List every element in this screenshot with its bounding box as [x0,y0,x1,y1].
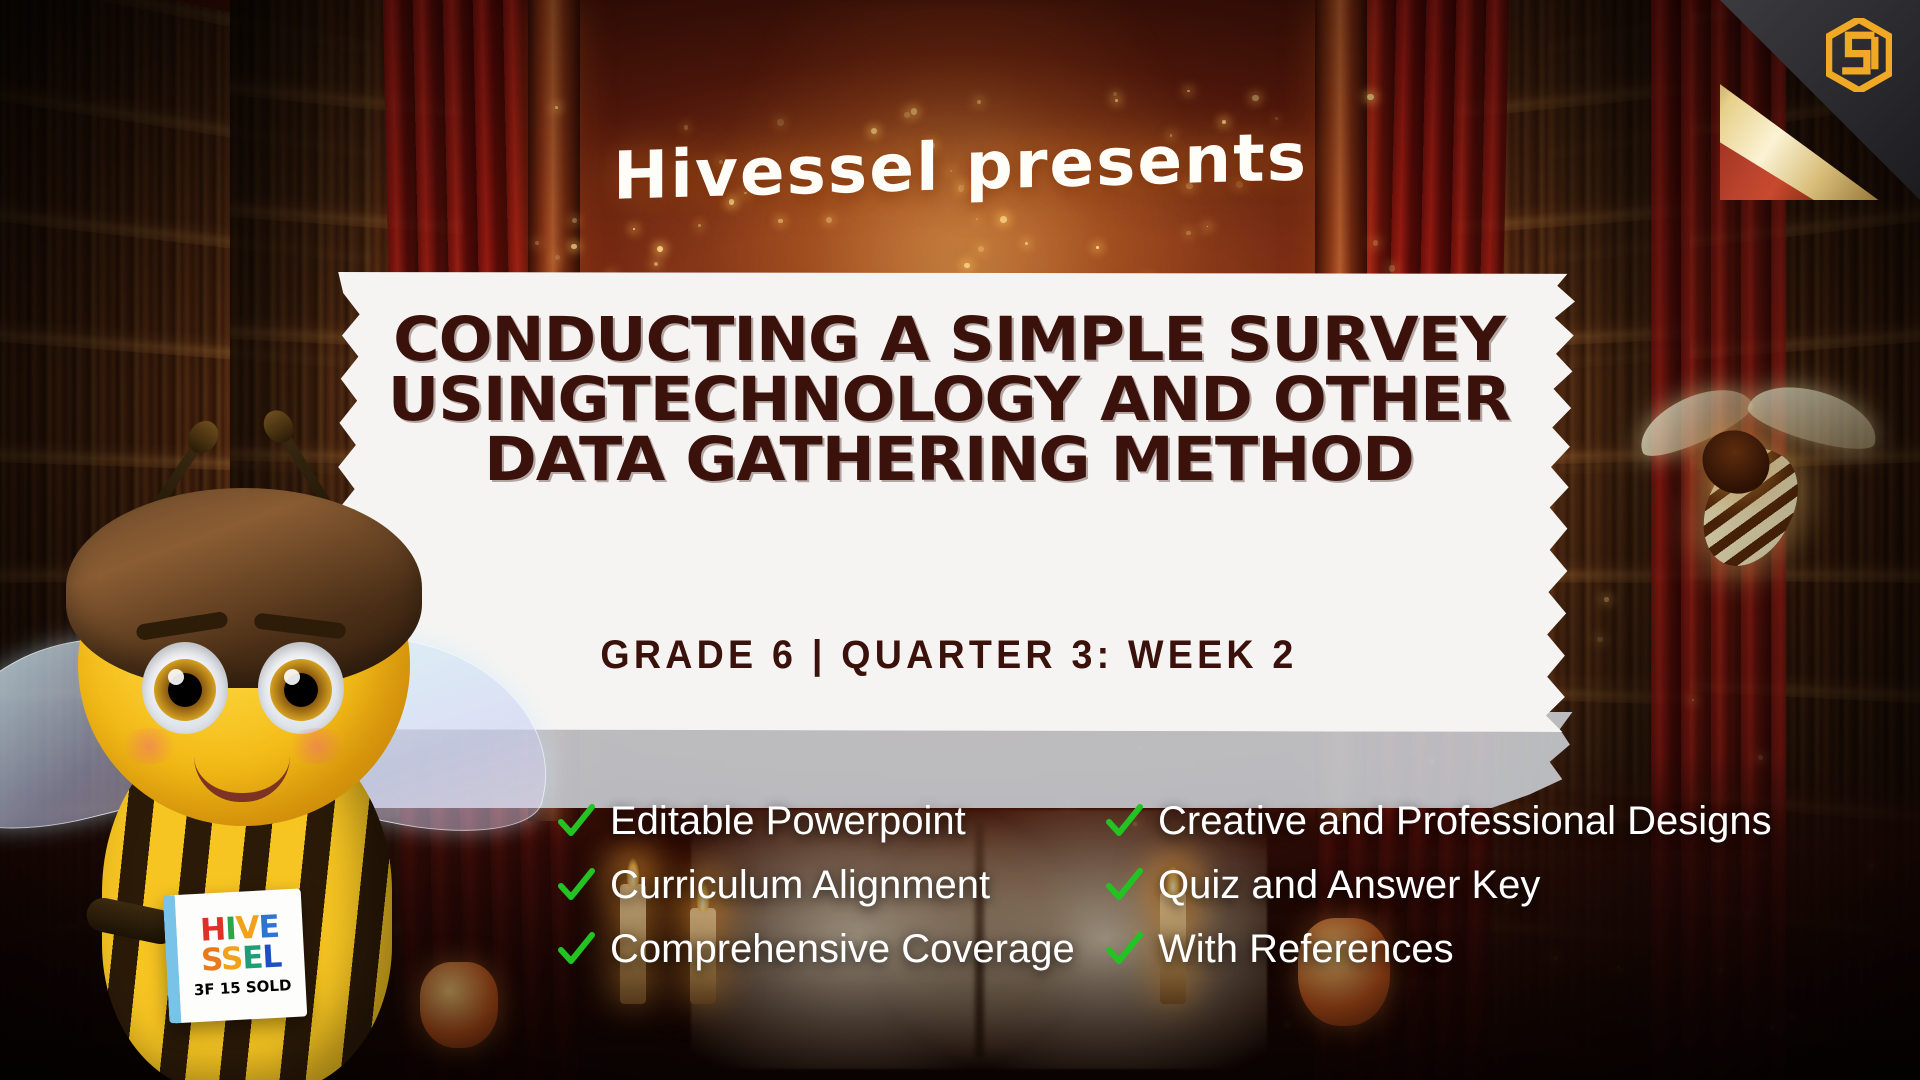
mascot-cheek-left [118,728,180,764]
list-item: Editable Powerpoint [556,800,1062,842]
feature-list: Editable Powerpoint Creative and Profess… [556,800,1896,970]
presents-text: Hivessel presents [613,118,1308,214]
slide-canvas: Hivessel presents CONDUCTING A SIMPLE SU… [0,0,1920,1080]
check-icon [1104,801,1144,841]
check-icon [1104,865,1144,905]
mascot-book-line2: SSEL [200,943,282,976]
mascot-book: HIVE SSEL 3F 15 SOLD [163,888,308,1023]
mascot-eye-left [142,642,228,734]
mascot-eye-right [258,642,344,734]
mascot-hair [66,488,422,688]
list-item: With References [1104,928,1896,970]
check-icon [556,929,596,969]
check-icon [1104,929,1144,969]
check-icon [556,865,596,905]
presents-headline: Hivessel presents [0,128,1920,205]
mascot-cheek-right [286,728,348,764]
list-item-label: Editable Powerpoint [610,800,966,842]
check-icon [556,801,596,841]
hivessel-hex-logo-icon [1826,18,1892,92]
list-item-label: Curriculum Alignment [610,864,990,906]
list-item: Creative and Professional Designs [1104,800,1896,842]
list-item-label: With References [1158,928,1454,970]
bee-mascot: HIVE SSEL 3F 15 SOLD [0,392,530,1080]
mascot-book-line3: 3F 15 SOLD [193,976,291,999]
list-item-label: Quiz and Answer Key [1158,864,1540,906]
list-item: Quiz and Answer Key [1104,864,1896,906]
page-subtitle: GRADE 6 | QUARTER 3: WEEK 2 [356,633,1542,678]
list-item-label: Creative and Professional Designs [1158,800,1772,842]
list-item: Curriculum Alignment [556,864,1062,906]
list-item-label: Comprehensive Coverage [610,928,1075,970]
list-item: Comprehensive Coverage [556,928,1062,970]
